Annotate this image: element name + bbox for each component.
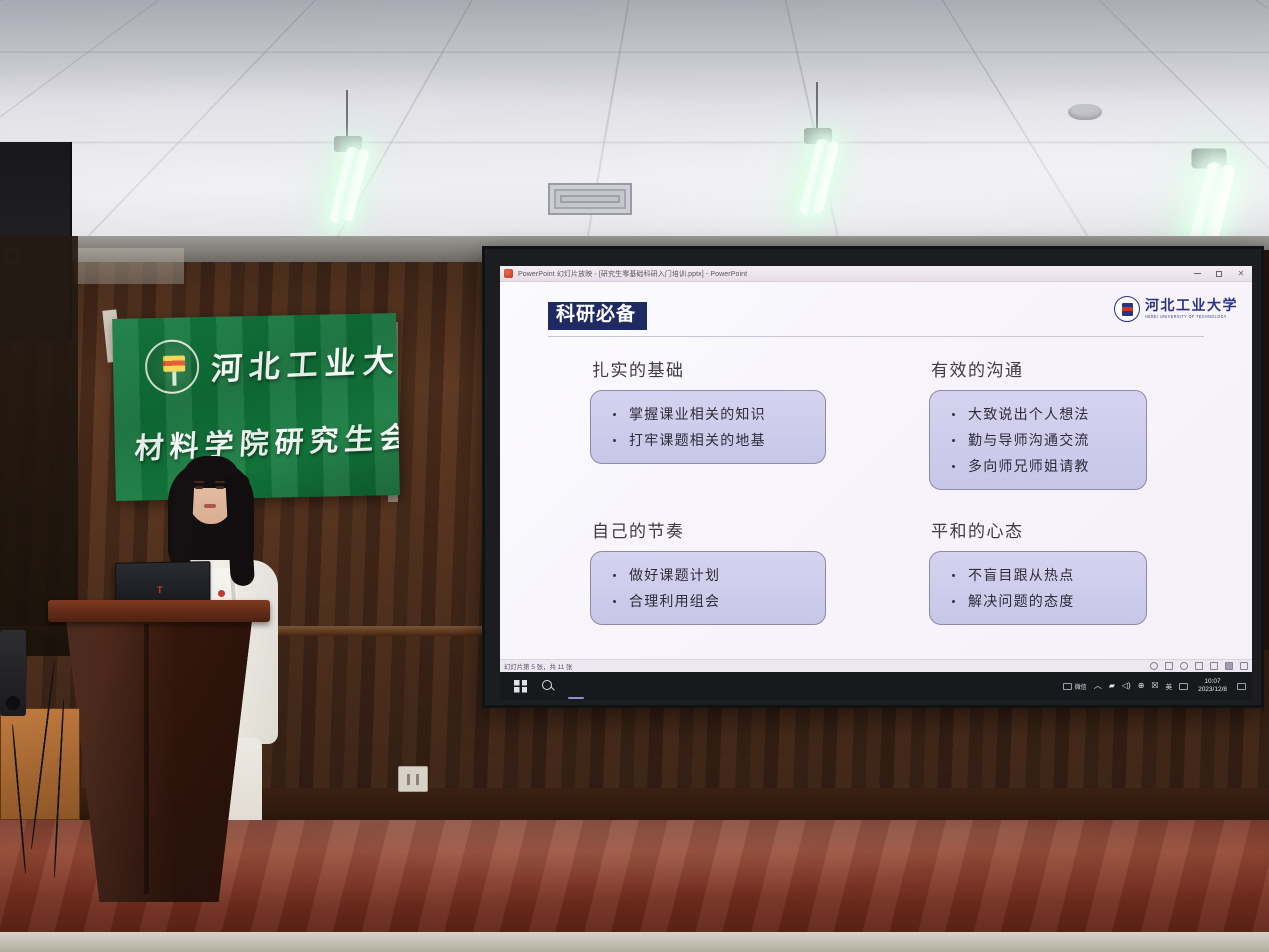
wooden-lectern — [48, 600, 270, 902]
bullet-item: 大致说出个人想法 — [938, 401, 1138, 427]
bullet-text: 多向师兄师姐请教 — [968, 456, 1090, 476]
bullet-item: 做好课题计划 — [599, 562, 817, 588]
bullet-item: 打牢课题相关的地基 — [599, 427, 817, 453]
normal-view-icon[interactable] — [1150, 662, 1158, 670]
bullet-item: 解决问题的态度 — [938, 588, 1138, 614]
slide-counter: 幻灯片第 5 张，共 11 张 — [504, 662, 572, 671]
bullet-text: 合理利用组会 — [629, 591, 720, 611]
powerpoint-taskbar-icon[interactable] — [569, 678, 585, 694]
ime-panel-icon[interactable]: ☒ — [1151, 682, 1158, 690]
reading-view-icon[interactable] — [1195, 662, 1203, 670]
bullet-text: 勤与导师沟通交流 — [968, 430, 1090, 450]
tray-icon[interactable] — [1179, 683, 1188, 690]
lectern-top-surface — [48, 600, 270, 622]
projection-screen: PowerPoint 幻灯片放映 - [研究生零基础科研入门培训.pptx] -… — [482, 246, 1264, 708]
smoke-detector-icon — [1068, 104, 1102, 120]
slide-sorter-icon[interactable] — [1180, 662, 1188, 670]
status-view-controls[interactable] — [1150, 662, 1248, 670]
slide-quadrants: 扎实的基础 掌握课业相关的知识 打牢课题相关的地基 — [560, 356, 1200, 659]
bullet-text: 打牢课题相关的地基 — [629, 430, 766, 450]
bullet-text: 做好课题计划 — [629, 565, 720, 585]
laptop-on-lectern: T — [115, 561, 210, 605]
bullet-dot-icon — [613, 413, 616, 416]
active-app-underline — [568, 697, 584, 699]
windows-taskbar[interactable]: 微信 ︿ ▰ ◁) ⊕ ☒ 英 10:07 2023/12/8 — [500, 672, 1252, 700]
bullet-dot-icon — [952, 439, 955, 442]
chat-icon — [1063, 683, 1072, 690]
outline-view-icon[interactable] — [1165, 662, 1173, 670]
powerpoint-status-bar[interactable]: 幻灯片第 5 张，共 11 张 — [500, 659, 1252, 672]
bullet-text: 解决问题的态度 — [968, 591, 1074, 611]
windows-desktop: PowerPoint 幻灯片放映 - [研究生零基础科研入门培训.pptx] -… — [500, 266, 1252, 700]
university-name-en: HEBEI UNIVERSITY OF TECHNOLOGY — [1145, 314, 1238, 319]
bullet-dot-icon — [613, 574, 616, 577]
ime-mode-indicator[interactable]: 英 — [1166, 681, 1173, 691]
quadrant-heading: 扎实的基础 — [592, 356, 861, 381]
fit-slide-icon[interactable] — [1240, 662, 1248, 670]
presenter-badge-dot — [218, 590, 225, 597]
quadrant-bullet-box: 不盲目跟从热点 解决问题的态度 — [929, 551, 1147, 625]
university-name-cn: 河北工业大学 — [1145, 300, 1238, 315]
window-title: PowerPoint 幻灯片放映 - [研究生零基础科研入门培训.pptx] -… — [518, 269, 747, 279]
quadrant-foundation: 扎实的基础 掌握课业相关的知识 打牢课题相关的地基 — [560, 356, 861, 505]
bullet-dot-icon — [952, 574, 955, 577]
quadrant-bullet-box: 掌握课业相关的知识 打牢课题相关的地基 — [590, 390, 826, 464]
taskbar-system-tray[interactable]: 微信 ︿ ▰ ◁) ⊕ ☒ 英 10:07 2023/12/8 — [1063, 678, 1246, 694]
chat-label: 微信 — [1075, 682, 1087, 691]
ceiling-air-vent-icon — [548, 183, 632, 215]
microphone-stand — [0, 630, 26, 716]
bullet-item: 多向师兄师姐请教 — [938, 453, 1138, 479]
globe-icon[interactable]: ⊕ — [1138, 682, 1145, 690]
lectern-center-seam — [144, 624, 149, 894]
quadrant-rhythm: 自己的节奏 做好课题计划 合理利用组会 — [560, 517, 861, 659]
volume-icon[interactable]: ◁) — [1122, 682, 1131, 690]
ime-mode-label: 英 — [1166, 681, 1173, 691]
network-icon[interactable]: ▰ — [1109, 682, 1115, 690]
slide-title-banner: 科研必备 — [548, 302, 647, 330]
windows-start-icon[interactable] — [514, 680, 527, 693]
presenter-brow-left — [194, 481, 204, 483]
slide-university-logo: 河北工业大学 HEBEI UNIVERSITY OF TECHNOLOGY — [1114, 296, 1238, 322]
banner-book-icon — [163, 355, 185, 371]
presenter-mouth — [204, 504, 216, 508]
presenter-brow-right — [215, 481, 225, 483]
minimize-icon — [1194, 273, 1201, 274]
wall-panel — [74, 248, 184, 284]
bullet-text: 不盲目跟从热点 — [968, 565, 1074, 585]
slide-canvas[interactable]: 科研必备 河北工业大学 HEBEI UNIVERSITY OF TECHNOLO… — [500, 282, 1252, 659]
quadrant-heading: 自己的节奏 — [592, 517, 861, 542]
zoom-out-icon[interactable] — [1225, 662, 1233, 670]
lecture-hall-scene: 河北工业大学 材料学院研究生会 PowerPoint 幻灯片放映 - [研究生零… — [0, 0, 1269, 952]
light-stem — [346, 90, 348, 136]
bullet-item: 掌握课业相关的知识 — [599, 401, 817, 427]
ceiling-light-2 — [786, 120, 874, 212]
window-controls[interactable]: ✕ — [1186, 266, 1252, 281]
quadrant-communication: 有效的沟通 大致说出个人想法 勤与导师沟通交流 — [899, 356, 1200, 505]
bullet-dot-icon — [952, 413, 955, 416]
banner-seal-stem — [172, 372, 176, 386]
laptop-logo-icon: T — [157, 585, 162, 595]
clock-time: 10:07 — [1198, 678, 1227, 686]
minimize-button[interactable] — [1186, 266, 1208, 281]
chat-tray-item[interactable]: 微信 — [1063, 682, 1087, 691]
chevron-up-icon[interactable]: ︿ — [1094, 682, 1102, 690]
projection-screen-surface: PowerPoint 幻灯片放映 - [研究生零基础科研入门培训.pptx] -… — [500, 266, 1252, 700]
bullet-item: 合理利用组会 — [599, 588, 817, 614]
slide-title: 科研必备 — [556, 304, 636, 325]
taskbar-clock[interactable]: 10:07 2023/12/8 — [1198, 678, 1227, 694]
bullet-item: 勤与导师沟通交流 — [938, 427, 1138, 453]
bullet-item: 不盲目跟从热点 — [938, 562, 1138, 588]
quadrant-heading: 平和的心态 — [931, 517, 1200, 542]
bullet-dot-icon — [613, 600, 616, 603]
taskbar-left-group[interactable] — [514, 678, 585, 694]
bullet-dot-icon — [952, 465, 955, 468]
ceiling-light-falloff — [0, 0, 1269, 262]
ceiling-light-1 — [316, 128, 404, 220]
bullet-text: 掌握课业相关的知识 — [629, 404, 766, 424]
restore-button[interactable] — [1208, 266, 1230, 281]
ceiling — [0, 0, 1269, 262]
university-name-block: 河北工业大学 HEBEI UNIVERSITY OF TECHNOLOGY — [1145, 300, 1238, 319]
slide-title-underline — [548, 336, 1204, 337]
presenter-eye-right — [216, 486, 224, 489]
powerpoint-icon — [504, 269, 513, 278]
quadrant-mindset: 平和的心态 不盲目跟从热点 解决问题的态度 — [899, 517, 1200, 659]
bullet-dot-icon — [613, 439, 616, 442]
lectern-body — [66, 620, 252, 902]
restore-icon — [1216, 271, 1222, 277]
close-button[interactable]: ✕ — [1230, 266, 1252, 281]
quadrant-bullet-box: 大致说出个人想法 勤与导师沟通交流 多向师兄师姐请教 — [929, 390, 1147, 490]
wall-power-outlet — [398, 766, 428, 792]
powerpoint-window[interactable]: PowerPoint 幻灯片放映 - [研究生零基础科研入门培训.pptx] -… — [500, 266, 1252, 672]
quadrant-heading: 有效的沟通 — [931, 356, 1200, 381]
notes-icon[interactable] — [1210, 662, 1218, 670]
clock-date: 2023/12/8 — [1198, 686, 1227, 694]
presenter-eye-left — [195, 486, 203, 489]
floor-front-edge — [0, 932, 1269, 952]
notifications-icon[interactable] — [1237, 683, 1246, 690]
search-icon[interactable] — [541, 679, 555, 693]
window-titlebar[interactable]: PowerPoint 幻灯片放映 - [研究生零基础科研入门培训.pptx] -… — [500, 266, 1252, 282]
banner-line-1: 河北工业大学 — [210, 333, 400, 389]
quadrant-bullet-box: 做好课题计划 合理利用组会 — [590, 551, 826, 625]
left-dark-doorway — [0, 236, 78, 656]
university-seal-icon — [1114, 296, 1140, 322]
light-stem — [816, 82, 818, 128]
bullet-text: 大致说出个人想法 — [968, 404, 1090, 424]
bullet-dot-icon — [952, 600, 955, 603]
banner-seal-icon — [145, 339, 200, 394]
right-wall-edge — [1264, 250, 1269, 650]
